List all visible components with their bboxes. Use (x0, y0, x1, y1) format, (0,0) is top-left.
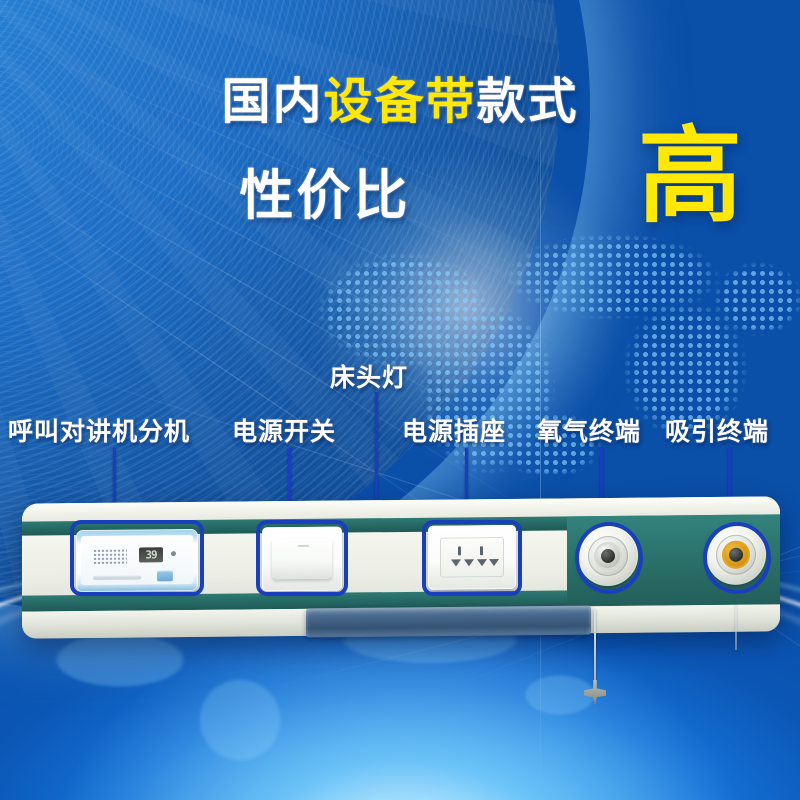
highlight-socket (422, 520, 522, 596)
callout-label-1: 呼叫对讲机分机 (8, 412, 190, 448)
callout-layer: 呼叫对讲机分机电源开关床头灯电源插座氧气终端吸引终端 (0, 0, 800, 800)
highlight-oxygen (575, 522, 643, 594)
bed-head-unit: 39 (22, 500, 780, 635)
callout-label-3: 床头灯 (330, 358, 408, 394)
callout-label-5: 氧气终端 (537, 412, 641, 448)
oxygen-pull-cord (594, 610, 596, 685)
promo-banner: 国内设备带款式 性价比 高 呼叫对讲机分机电源开关床头灯电源插座氧气终端吸引终端… (0, 0, 800, 800)
highlight-switch (256, 520, 348, 596)
callout-label-6: 吸引终端 (665, 412, 769, 448)
callout-label-4: 电源插座 (402, 412, 506, 448)
suction-pull-cord (735, 605, 737, 650)
highlight-intercom (70, 520, 204, 596)
callout-label-2: 电源开关 (232, 412, 336, 448)
bed-lamp-strip[interactable] (306, 606, 591, 638)
highlight-suction (703, 522, 771, 594)
